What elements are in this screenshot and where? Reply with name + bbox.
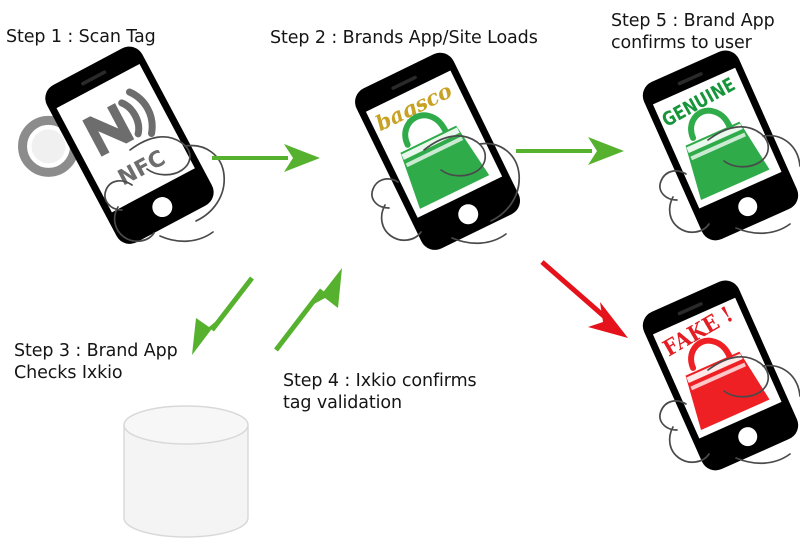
arrow-app-to-fake — [542, 262, 628, 338]
ixkio-database[interactable] — [124, 406, 248, 537]
arrow-scan-to-app — [212, 144, 320, 172]
step-label-1: Step 1 : Scan Tag — [6, 26, 156, 48]
phone-fake[interactable]: FAKE ! — [638, 276, 800, 475]
database-top — [124, 406, 248, 444]
step-label-2: Step 2 : Brands App/Site Loads — [270, 27, 538, 49]
step-label-3: Step 3 : Brand App Checks Ixkio — [14, 340, 178, 385]
step-label-4: Step 4 : Ixkio confirms tag validation — [283, 370, 477, 415]
phone-brand-app[interactable]: bagsco — [350, 48, 525, 255]
phone-genuine[interactable]: GENUINE — [638, 46, 800, 245]
phone-scan[interactable]: NFC — [0, 41, 219, 274]
arrow-app-to-genuine — [516, 137, 624, 165]
diagram-canvas: NFC bagsco — [0, 0, 800, 541]
arrow-app-to-database — [192, 278, 252, 355]
arrow-database-to-app — [276, 268, 342, 350]
step-label-5: Step 5 : Brand App confirms to user — [611, 10, 775, 55]
